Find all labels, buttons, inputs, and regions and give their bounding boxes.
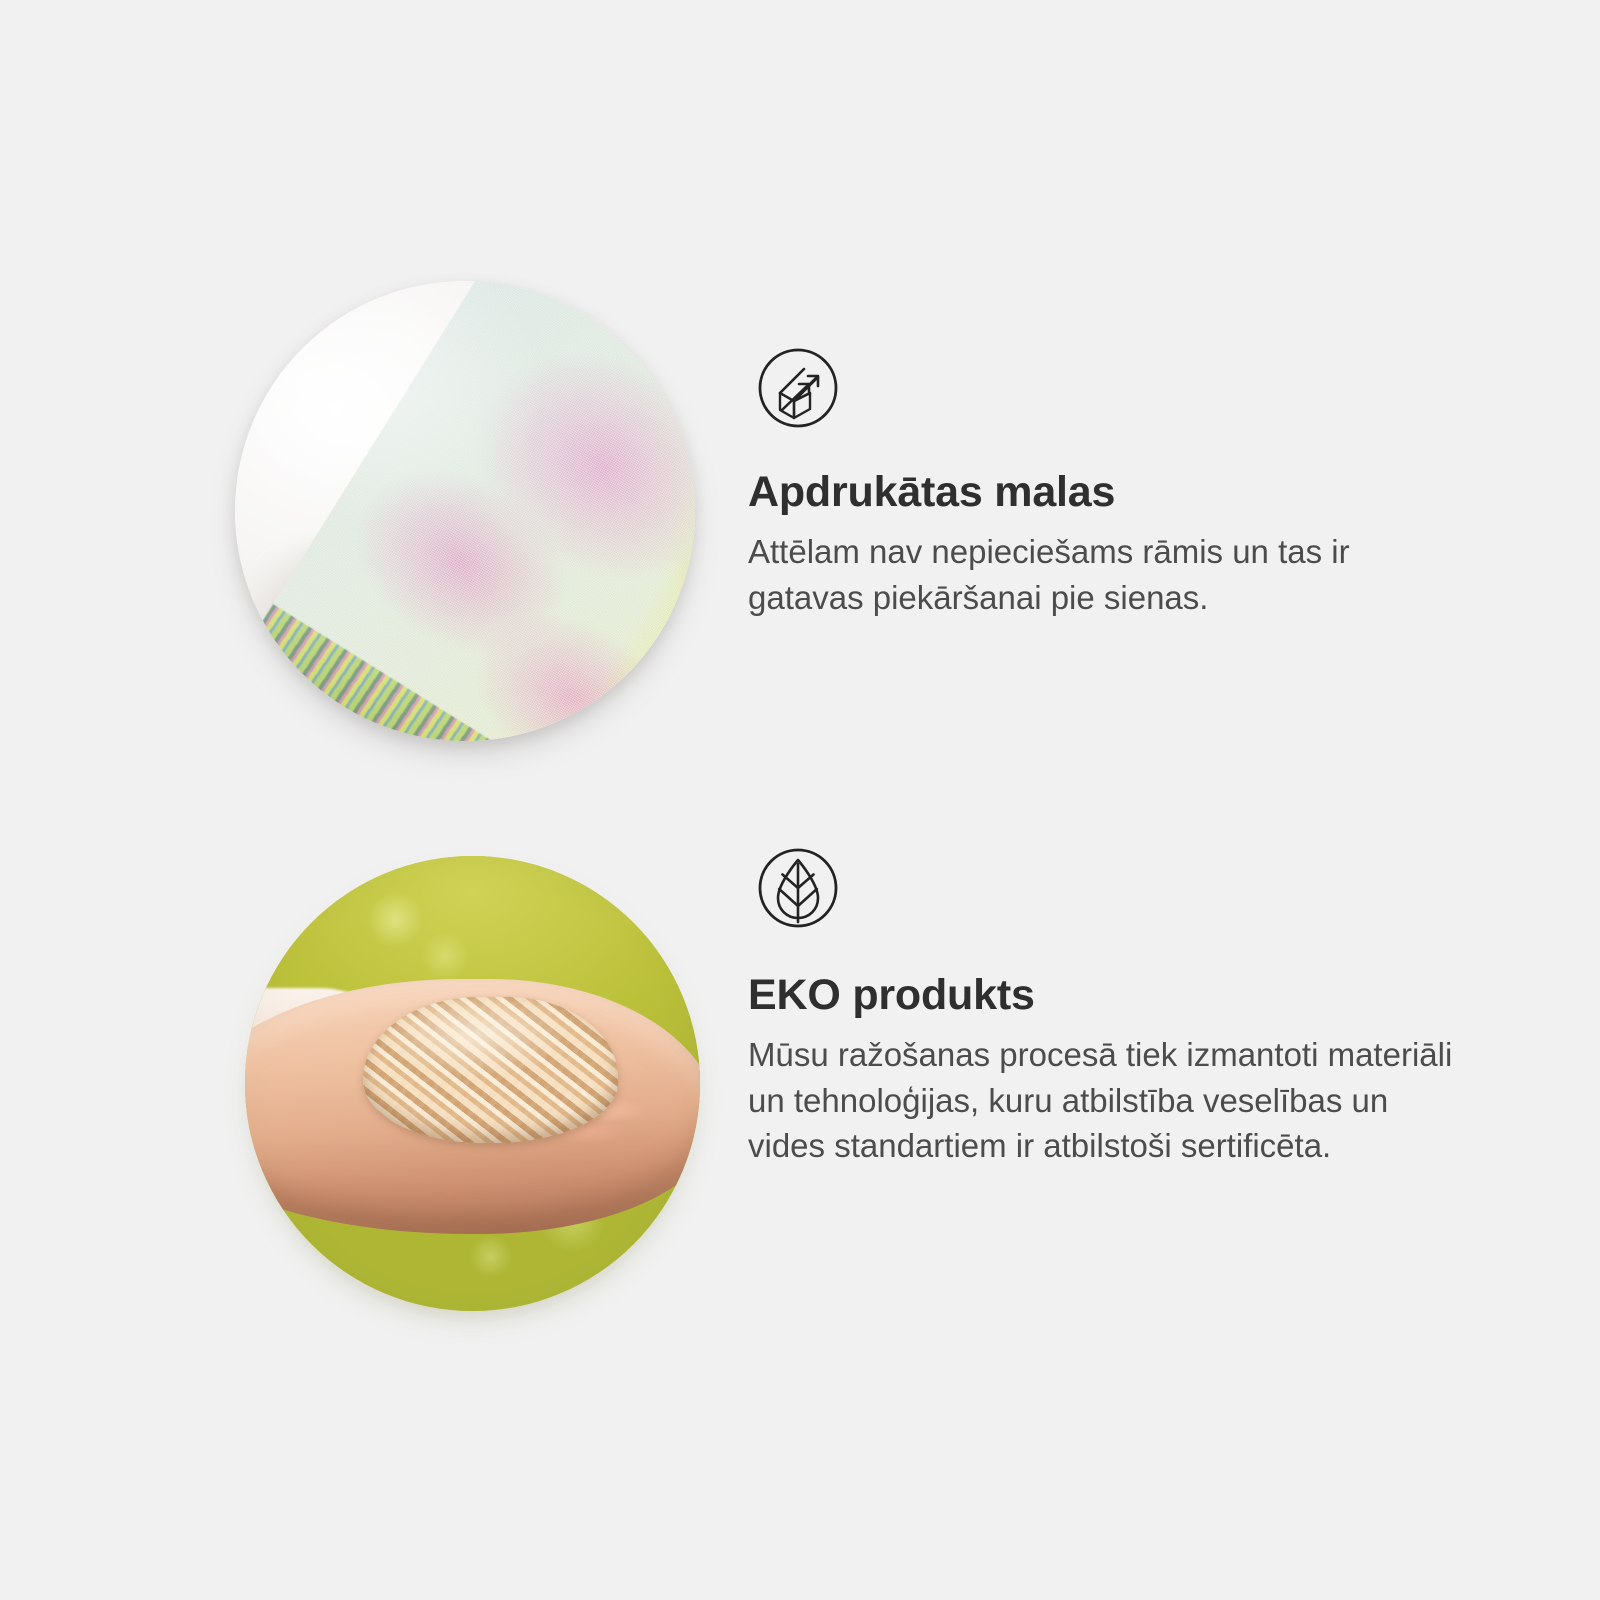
feature-item-eco-product: EKO produkts Mūsu ražošanas procesā tiek… [0, 830, 1600, 1350]
leaf-icon [748, 838, 848, 938]
feature-media-column [0, 250, 700, 770]
hand-holding-wood-chips-photo [245, 856, 700, 1311]
feature-description: Attēlam nav nepieciešams rāmis un tas ir… [748, 529, 1460, 619]
wood-chips-highlight [363, 997, 618, 1143]
canvas-print-corner-photo [235, 281, 695, 741]
feature-title: Apdrukātas malas [748, 469, 1488, 515]
feature-text-column: EKO produkts Mūsu ražošanas procesā tiek… [748, 830, 1488, 1168]
feature-media-column [0, 830, 700, 1350]
feature-list: Apdrukātas malas Attēlam nav nepieciešam… [0, 0, 1600, 1600]
feature-title: EKO produkts [748, 972, 1488, 1018]
feature-item-printed-edges: Apdrukātas malas Attēlam nav nepieciešam… [0, 250, 1600, 770]
feature-text-column: Apdrukātas malas Attēlam nav nepieciešam… [748, 250, 1488, 620]
feature-description: Mūsu ražošanas procesā tiek izmantoti ma… [748, 1032, 1460, 1168]
wrapped-canvas-edge-icon [748, 338, 848, 438]
wood-chips-pile [363, 997, 618, 1143]
